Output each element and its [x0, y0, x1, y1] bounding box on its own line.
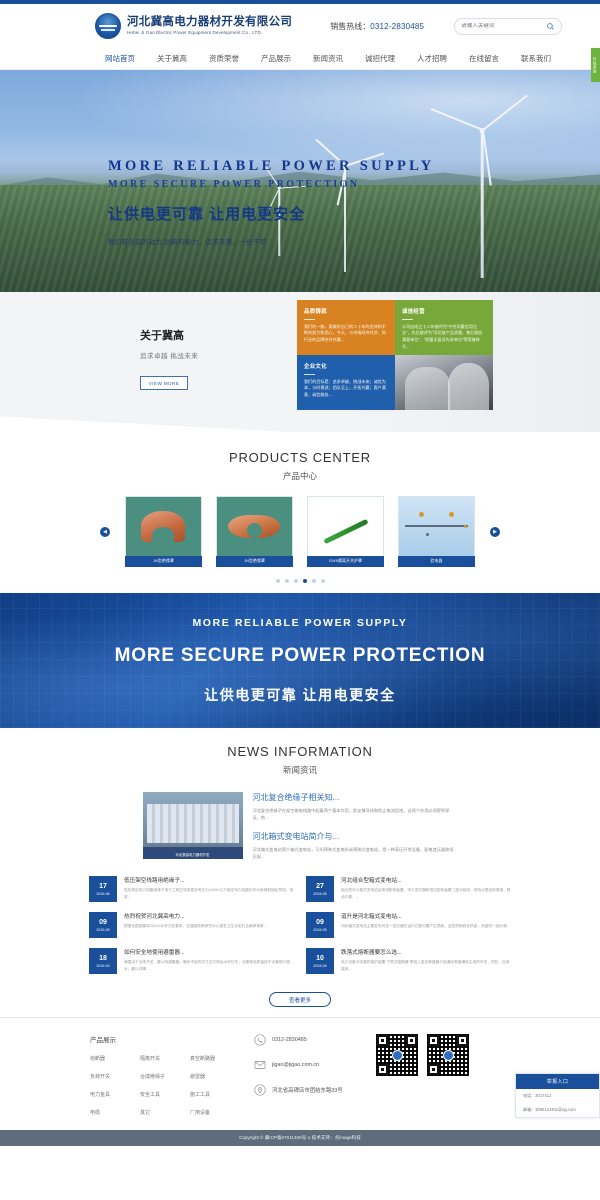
product-card[interactable]: 验电器 [398, 496, 475, 567]
about-tile-culture[interactable]: 企业文化 我们的目标是：追求卓越，挑战未来；诚信为本，与时俱进；团队至上，开拓共… [297, 355, 395, 410]
carousel-dot[interactable] [276, 579, 280, 583]
news-feature-list: 河北复合绝缘子相关知... 河北复合绝缘子在架空输电线路中起着两个基本作用，即支… [253, 792, 458, 860]
carousel-prev-button[interactable]: ◀ [100, 527, 110, 537]
news-list-grid: 17 2019-06 低压架空线路用绝缘子... 低压架空电力线路绝缘子用于工频… [0, 876, 600, 974]
footer-phone-value: 0312-2830485 [272, 1037, 307, 1043]
news-item-desc: 低压架空电力线路绝缘子用于工频交流或直流电压为1000V以下架空电力线路中作为绝… [124, 887, 294, 900]
product-image [125, 496, 202, 556]
footer-link[interactable]: 合成绝缘子 [140, 1073, 190, 1080]
wind-turbine-icon [462, 128, 502, 278]
about-text-block: 关于冀高 追求卓越 挑战未来 VIEW MORE [140, 327, 198, 390]
qr-eye [428, 1035, 439, 1046]
news-date-ym: 2019-05 [96, 928, 109, 932]
news-date-day: 18 [99, 955, 107, 962]
about-tile-quality[interactable]: 品质铸就 我们的一路，要做好自己的二十年的坚持和不断的努力和用心，今天，与市场同… [297, 300, 395, 355]
about-slogan: 追求卓越 挑战未来 [140, 350, 198, 360]
news-item-title[interactable]: 如何安全地使用避雷器... [124, 948, 294, 956]
news-feature-desc: 河北复合绝缘子在架空输电线路中起着两个基本作用，即支撑导线和防止电流回地，这两个… [253, 807, 458, 822]
carousel-dot[interactable] [285, 579, 289, 583]
news-date-badge: 09 2019-05 [306, 912, 334, 938]
view-more-button[interactable]: VIEW MORE [140, 376, 188, 390]
mid-banner-line-3: 让供电更可靠 让用电更安全 [0, 685, 600, 705]
news-feature-title[interactable]: 河北复合绝缘子相关知... [253, 792, 458, 803]
report-entry-panel: 举报入口 电话：2017412 邮箱：3056124401@qq.com [515, 1073, 600, 1118]
qr-eye [406, 1035, 417, 1046]
qr-code-mobile [427, 1034, 469, 1076]
news-title-cn: 新闻资讯 [0, 764, 600, 776]
product-caption: JN型绝缘罩 [125, 556, 202, 567]
news-date-day: 27 [316, 883, 324, 890]
news-list-item[interactable]: 18 2019-04 如何安全地使用避雷器... 我国由于近来开关，戴以特避雷器… [89, 948, 294, 974]
news-item-title[interactable]: 道升是河北箱式变电站... [341, 912, 511, 920]
footer-contact-email: jigao@jigao.com.cn [254, 1059, 370, 1071]
report-entry-phone: 电话：2017412 [516, 1089, 599, 1103]
news-title-en: NEWS INFORMATION [0, 744, 600, 759]
news-column-left: 17 2019-06 低压架空线路用绝缘子... 低压架空电力线路绝缘子用于工频… [89, 876, 294, 974]
news-item-desc: 根据全国部属标2014130号文件要求，住建部政策研究中心颁发卫生评定栏合格审核… [124, 923, 294, 929]
site-footer: 产品展示 熔断器 隔离开关 真空断路器 负荷开关 合成绝缘子 避雷器 电力金具 … [0, 1017, 600, 1146]
news-date-badge: 27 2019-05 [306, 876, 334, 902]
nav-item-products[interactable]: 产品展示 [261, 53, 291, 64]
hero-copy: MORE RELIABLE POWER SUPPLY MORE SECURE P… [108, 158, 435, 246]
about-tile-title: 诚信经营 [402, 307, 486, 320]
footer-links-block: 产品展示 熔断器 隔离开关 真空断路器 负荷开关 合成绝缘子 避雷器 电力金具 … [90, 1034, 240, 1116]
qr-eye [377, 1035, 388, 1046]
location-icon [254, 1084, 266, 1096]
about-tile-title: 企业文化 [304, 362, 388, 375]
news-item-desc: 我国由于近来开关，戴以特避雷器，确永不起的次方法方明治大的日失，近期各地质量技不… [124, 959, 294, 972]
news-item-title[interactable]: 热烈祝贺河北冀高电力... [124, 912, 294, 920]
report-entry-title[interactable]: 举报入口 [516, 1074, 599, 1089]
news-date-day: 09 [99, 919, 107, 926]
news-date-badge: 09 2019-05 [89, 912, 117, 938]
products-section: PRODUCTS CENTER 产品中心 ◀ ▶ JN型绝缘罩 JN型绝缘罩 G… [0, 432, 600, 593]
news-item-title[interactable]: 低压架空线路用绝缘子... [124, 876, 294, 884]
copyright-text: Copyright © 冀ICP备07011400号-1 技术支持：点image… [239, 1135, 361, 1141]
carousel-dot[interactable] [312, 579, 316, 583]
footer-link[interactable]: 电力金具 [90, 1091, 140, 1098]
site-header: 河北冀高电力器材开发有限公司 Hebei Ji Gao Electric Pow… [0, 4, 600, 48]
hero-headline-cn: 让供电更可靠 让用电更安全 [108, 203, 435, 224]
search-box[interactable] [454, 18, 562, 35]
news-date-ym: 2019-04 [313, 964, 326, 968]
phone-icon [254, 1034, 266, 1046]
about-tile-title: 品质铸就 [304, 307, 388, 320]
hero-banner: MORE RELIABLE POWER SUPPLY MORE SECURE P… [0, 70, 600, 292]
news-date-day: 09 [316, 919, 324, 926]
footer-contact-block: 0312-2830485 jigao@jigao.com.cn 河北省 [240, 1034, 370, 1116]
qr-logo-icon [443, 1050, 454, 1061]
news-date-ym: 2019-05 [313, 892, 326, 896]
footer-link[interactable]: 其它 [140, 1109, 190, 1116]
product-image [216, 496, 293, 556]
news-item-desc: 组合型可以箱式变电站由常用配电装置、电力变压器和低压配电装置三部分组成，其特点是… [341, 887, 511, 900]
view-more-label: VIEW MORE [149, 381, 179, 386]
company-logo-icon [95, 13, 121, 39]
product-caption: JN型绝缘罩 [216, 556, 293, 567]
hero-headline-en-2: MORE SECURE POWER PROTECTION [108, 179, 435, 190]
hotline-number: 0312-2830485 [370, 22, 424, 31]
nav-item-contact[interactable]: 联系我们 [521, 53, 551, 64]
news-date-day: 17 [99, 883, 107, 890]
mail-icon [254, 1059, 266, 1071]
products-title-en: PRODUCTS CENTER [0, 450, 600, 465]
footer-link[interactable]: 真空断路器 [190, 1055, 240, 1062]
report-entry-email: 邮箱：3056124401@qq.com [516, 1103, 599, 1117]
news-feature-item[interactable]: 河北复合绝缘子相关知... 河北复合绝缘子在架空输电线路中起着两个基本作用，即支… [253, 792, 458, 822]
about-tile-text: 公司自成立十二年被评为“守合同重信用企业”，先后被评为“河北省产品质量、售后服务… [402, 324, 486, 351]
qr-eye [428, 1064, 439, 1075]
hero-subtext: 我们有创造的动力,创新的能力，追求完美，一丝不苟 [108, 236, 435, 246]
product-image [398, 496, 475, 556]
footer-link[interactable]: 隔离开关 [140, 1055, 190, 1062]
about-tile-text: 我们的一路，要做好自己的二十年的坚持和不断的努力和用心，今天，与市场同舟共济，同… [304, 324, 388, 344]
product-caption: GW9隔离开关护罩 [307, 556, 384, 567]
footer-link[interactable]: 避雷器 [190, 1073, 240, 1080]
news-item-title[interactable]: 河北组合型箱式变电站... [341, 876, 511, 884]
footer-link[interactable]: 负荷开关 [90, 1073, 140, 1080]
news-item-desc: 电力设备中电路的保护装置“下跌式熔断器”是线上高压断路器已经通买和普通双主用的开… [341, 959, 511, 972]
hero-headline-en-1: MORE RELIABLE POWER SUPPLY [108, 158, 435, 175]
carousel-dots [0, 579, 600, 583]
product-card[interactable]: JN型绝缘罩 [125, 496, 202, 567]
news-list-item[interactable]: 10 2019-04 跌落式熔断器要怎么选... 电力设备中电路的保护装置“下跌… [306, 948, 511, 974]
footer-contact-address: 河北省高碑店市团结东路33号 [254, 1084, 370, 1096]
about-section: 关于冀高 追求卓越 挑战未来 VIEW MORE 品质铸就 我们的一路，要做好自… [0, 292, 600, 432]
footer-link[interactable]: 厂用设备 [190, 1109, 240, 1116]
load-more-button[interactable]: 查看更多 [269, 992, 331, 1007]
news-date-badge: 17 2019-06 [89, 876, 117, 902]
news-date-badge: 10 2019-04 [306, 948, 334, 974]
product-carousel: JN型绝缘罩 JN型绝缘罩 GW9隔离开关护罩 验电器 [0, 496, 600, 567]
brand-block[interactable]: 河北冀高电力器材开发有限公司 Hebei Ji Gao Electric Pow… [95, 13, 292, 39]
nav-item-message[interactable]: 在线留言 [469, 53, 499, 64]
news-featured: 河北冀高电力器材开发 河北复合绝缘子相关知... 河北复合绝缘子在架空输电线路中… [0, 792, 600, 860]
news-list-item[interactable]: 17 2019-06 低压架空线路用绝缘子... 低压架空电力线路绝缘子用于工频… [89, 876, 294, 902]
product-image [307, 496, 384, 556]
mid-banner: MORE RELIABLE POWER SUPPLY MORE SECURE P… [0, 593, 600, 728]
qr-eye [377, 1064, 388, 1075]
hotline: 销售热线：0312-2830485 [330, 21, 424, 32]
mid-banner-line-2: MORE SECURE POWER PROTECTION [0, 645, 600, 667]
brand-text: 河北冀高电力器材开发有限公司 Hebei Ji Gao Electric Pow… [127, 16, 292, 36]
news-date-day: 10 [316, 955, 324, 962]
side-consult-tab[interactable]: 在线咨询 [591, 48, 600, 82]
product-card[interactable]: JN型绝缘罩 [216, 496, 293, 567]
copyright-bar: Copyright © 冀ICP备07011400号-1 技术支持：点image… [0, 1130, 600, 1146]
news-feature-title[interactable]: 河北箱式变电站简介与... [253, 831, 458, 842]
news-list-item[interactable]: 27 2019-05 河北组合型箱式变电站... 组合型可以箱式变电站由常用配电… [306, 876, 511, 902]
news-thumbnail-label: 河北冀高电力器材开发 [143, 852, 243, 857]
footer-qr-block [370, 1034, 510, 1116]
news-date-badge: 18 2019-04 [89, 948, 117, 974]
news-section: NEWS INFORMATION 新闻资讯 河北冀高电力器材开发 河北复合绝缘子… [0, 728, 600, 1017]
hotline-label: 销售热线： [330, 22, 370, 31]
news-item-desc: 河北箱式变电站主要发热均在一变压器在运行过程中要产生损耗，这些损耗转变热能，热量… [341, 923, 511, 929]
product-card[interactable]: GW9隔离开关护罩 [307, 496, 384, 567]
brand-name-en: Hebei Ji Gao Electric Power Equipment De… [127, 30, 292, 35]
nav-item-honor[interactable]: 资质荣誉 [209, 53, 239, 64]
footer-link[interactable]: 安全工具 [140, 1091, 190, 1098]
qr-code-wechat [376, 1034, 418, 1076]
nav-item-home[interactable]: 网站首页 [105, 53, 135, 64]
footer-contact-phone: 0312-2830485 [254, 1034, 370, 1046]
about-tile-photo-people-2 [395, 355, 493, 410]
about-tile-integrity[interactable]: 诚信经营 公司自成立十二年被评为“守合同重信用企业”，先后被评为“河北省产品质量… [395, 300, 493, 355]
nav-item-jobs[interactable]: 人才招聘 [417, 53, 447, 64]
news-list-item[interactable]: 09 2019-05 热烈祝贺河北冀高电力... 根据全国部属标2014130号… [89, 912, 294, 938]
footer-address-value: 河北省高碑店市团结东路33号 [272, 1086, 343, 1094]
about-tiles-right: 诚信经营 公司自成立十二年被评为“守合同重信用企业”，先后被评为“河北省产品质量… [395, 300, 493, 410]
carousel-dot[interactable] [321, 579, 325, 583]
main-nav: 网站首页 关于冀高 资质荣誉 产品展示 新闻资讯 诚招代理 人才招聘 在线留言 … [0, 48, 600, 70]
qr-eye [457, 1035, 468, 1046]
news-date-ym: 2019-05 [313, 928, 326, 932]
footer-email-value: jigao@jigao.com.cn [272, 1062, 319, 1068]
page-root: 河北冀高电力器材开发有限公司 Hebei Ji Gao Electric Pow… [0, 0, 600, 1146]
search-input[interactable] [461, 23, 546, 29]
news-date-ym: 2019-06 [96, 892, 109, 896]
carousel-dot-active[interactable] [303, 579, 307, 583]
footer-links: 熔断器 隔离开关 真空断路器 负荷开关 合成绝缘子 避雷器 电力金具 安全工具 … [90, 1055, 240, 1116]
footer-link[interactable]: 熔断器 [90, 1055, 140, 1062]
products-title-cn: 产品中心 [0, 470, 600, 482]
brand-name-cn: 河北冀高电力器材开发有限公司 [127, 16, 292, 29]
footer-link[interactable]: 电缆 [90, 1109, 140, 1116]
news-thumbnail[interactable]: 河北冀高电力器材开发 [143, 792, 243, 859]
news-column-right: 27 2019-05 河北组合型箱式变电站... 组合型可以箱式变电站由常用配电… [306, 876, 511, 974]
about-tile-text: 我们的目标是：追求卓越，挑战未来；诚信为本，与时俱进；团队至上，开拓共赢；客户满… [304, 379, 388, 399]
nav-item-about[interactable]: 关于冀高 [157, 53, 187, 64]
carousel-dot[interactable] [294, 579, 298, 583]
news-list-item[interactable]: 09 2019-05 道升是河北箱式变电站... 河北箱式变电站主要发热均在一变… [306, 912, 511, 938]
nav-item-news[interactable]: 新闻资讯 [313, 53, 343, 64]
hero-sky [0, 70, 600, 172]
news-feature-item[interactable]: 河北箱式变电站简介与... 河北箱式变电站简介箱式变电站，又叫预装式变电所或预装… [253, 831, 458, 861]
news-date-ym: 2019-04 [96, 964, 109, 968]
news-item-title[interactable]: 跌落式熔断器要怎么选... [341, 948, 511, 956]
search-icon[interactable] [546, 22, 555, 31]
footer-link[interactable]: 施工工具 [190, 1091, 240, 1098]
about-title: 关于冀高 [140, 327, 198, 343]
footer-links-heading: 产品展示 [90, 1034, 240, 1044]
carousel-next-button[interactable]: ▶ [490, 527, 500, 537]
news-feature-desc: 河北箱式变电站简介箱式变电站，又叫预装式变电所或预装式变电站，是一种高压开关设备… [253, 846, 458, 861]
mid-banner-line-1: MORE RELIABLE POWER SUPPLY [0, 617, 600, 629]
qr-logo-icon [392, 1050, 403, 1061]
product-caption: 验电器 [398, 556, 475, 567]
nav-item-agent[interactable]: 诚招代理 [365, 53, 395, 64]
